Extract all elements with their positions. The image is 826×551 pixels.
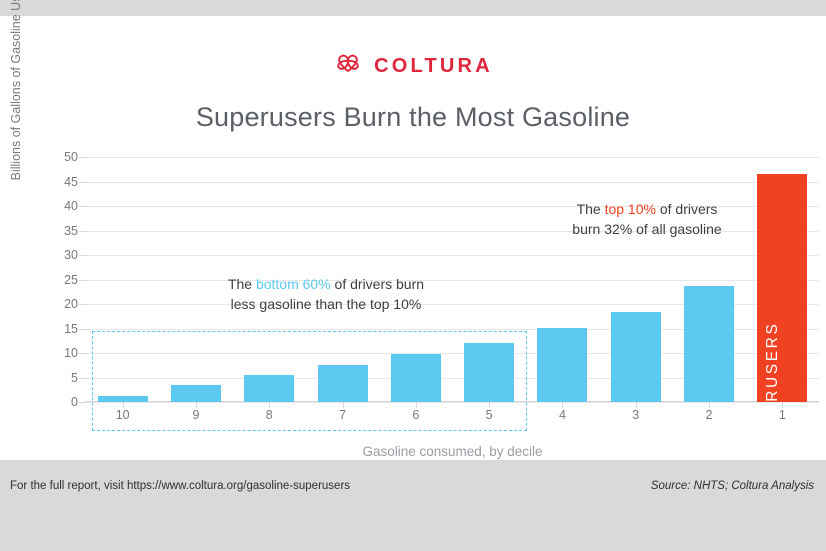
bar-decile-2[interactable] xyxy=(684,286,734,402)
annotation-right-line2: burn 32% of all gasoline xyxy=(572,221,721,237)
y-axis-tick-mark xyxy=(79,182,86,183)
y-axis-tick-mark xyxy=(79,378,86,379)
y-axis-tick-mark xyxy=(79,280,86,281)
chart-card: COLTURA Superusers Burn the Most Gasolin… xyxy=(0,16,826,460)
y-axis-tick-mark xyxy=(79,304,86,305)
y-axis-tick-label: 35 xyxy=(44,224,78,238)
annotation-left-prefix: The xyxy=(228,276,256,292)
annotation-left-suffix: of drivers burn xyxy=(331,276,424,292)
annotation-left-line2: less gasoline than the top 10% xyxy=(231,296,422,312)
y-axis-tick-label: 30 xyxy=(44,248,78,262)
y-axis-tick-label: 45 xyxy=(44,175,78,189)
x-axis-label-7: 7 xyxy=(306,408,379,422)
annotation-right-prefix: The xyxy=(577,201,605,217)
bar-slot xyxy=(672,157,745,402)
y-axis-tick-mark xyxy=(79,157,86,158)
y-axis-tick-mark xyxy=(79,329,86,330)
y-axis-tick-label: 10 xyxy=(44,346,78,360)
y-axis-tick-label: 40 xyxy=(44,199,78,213)
footer-source: Source: NHTS; Coltura Analysis xyxy=(651,480,814,492)
x-axis-label-9: 9 xyxy=(159,408,232,422)
x-axis-label-1: 1 xyxy=(746,408,819,422)
y-axis-tick-label: 5 xyxy=(44,371,78,385)
bar-label-superusers: SUPERUSERS xyxy=(764,322,782,455)
y-axis-tick-mark xyxy=(79,206,86,207)
x-axis-title: Gasoline consumed, by decile xyxy=(86,444,819,459)
x-axis-label-3: 3 xyxy=(599,408,672,422)
annotation-right-suffix: of drivers xyxy=(656,201,717,217)
brand-header: COLTURA xyxy=(0,46,826,86)
bar-decile-3[interactable] xyxy=(611,312,661,402)
y-axis-tick-label: 0 xyxy=(44,395,78,409)
y-axis-tick-label: 15 xyxy=(44,322,78,336)
y-axis-tick-mark xyxy=(79,402,86,403)
infographic-page: COLTURA Superusers Burn the Most Gasolin… xyxy=(0,0,826,551)
x-axis-label-5: 5 xyxy=(452,408,525,422)
annotation-bottom-60: The bottom 60% of drivers burn less gaso… xyxy=(180,274,472,314)
y-axis-tick-mark xyxy=(79,255,86,256)
footer-report-link[interactable]: For the full report, visit https://www.c… xyxy=(10,480,350,492)
annotation-top-10: The top 10% of drivers burn 32% of all g… xyxy=(548,199,746,239)
x-axis-label-2: 2 xyxy=(672,408,745,422)
coltura-heart-knot-icon xyxy=(333,51,363,81)
x-axis-label-4: 4 xyxy=(526,408,599,422)
y-axis-tick-label: 25 xyxy=(44,273,78,287)
annotation-left-highlight: bottom 60% xyxy=(256,276,331,292)
x-axis-labels: 10987654321 xyxy=(86,408,819,422)
y-axis-title: Billions of Gallons of Gasoline Used xyxy=(8,0,24,181)
x-axis-label-6: 6 xyxy=(379,408,452,422)
x-axis-label-10: 10 xyxy=(86,408,159,422)
page-title: Superusers Burn the Most Gasoline xyxy=(0,102,826,133)
bar-slot xyxy=(599,157,672,402)
bar-slot: SUPERUSERS xyxy=(746,157,819,402)
y-axis-tick-mark xyxy=(79,231,86,232)
y-axis-tick-label: 20 xyxy=(44,297,78,311)
y-axis-tick-mark xyxy=(79,353,86,354)
bar-decile-1[interactable]: SUPERUSERS xyxy=(757,174,807,402)
y-axis-tick-label: 50 xyxy=(44,150,78,164)
bar-slot xyxy=(526,157,599,402)
footer-bar: For the full report, visit https://www.c… xyxy=(0,460,826,551)
x-axis-label-8: 8 xyxy=(233,408,306,422)
annotation-right-highlight: top 10% xyxy=(605,201,656,217)
bar-decile-4[interactable] xyxy=(537,328,587,402)
brand-name: COLTURA xyxy=(374,55,493,78)
